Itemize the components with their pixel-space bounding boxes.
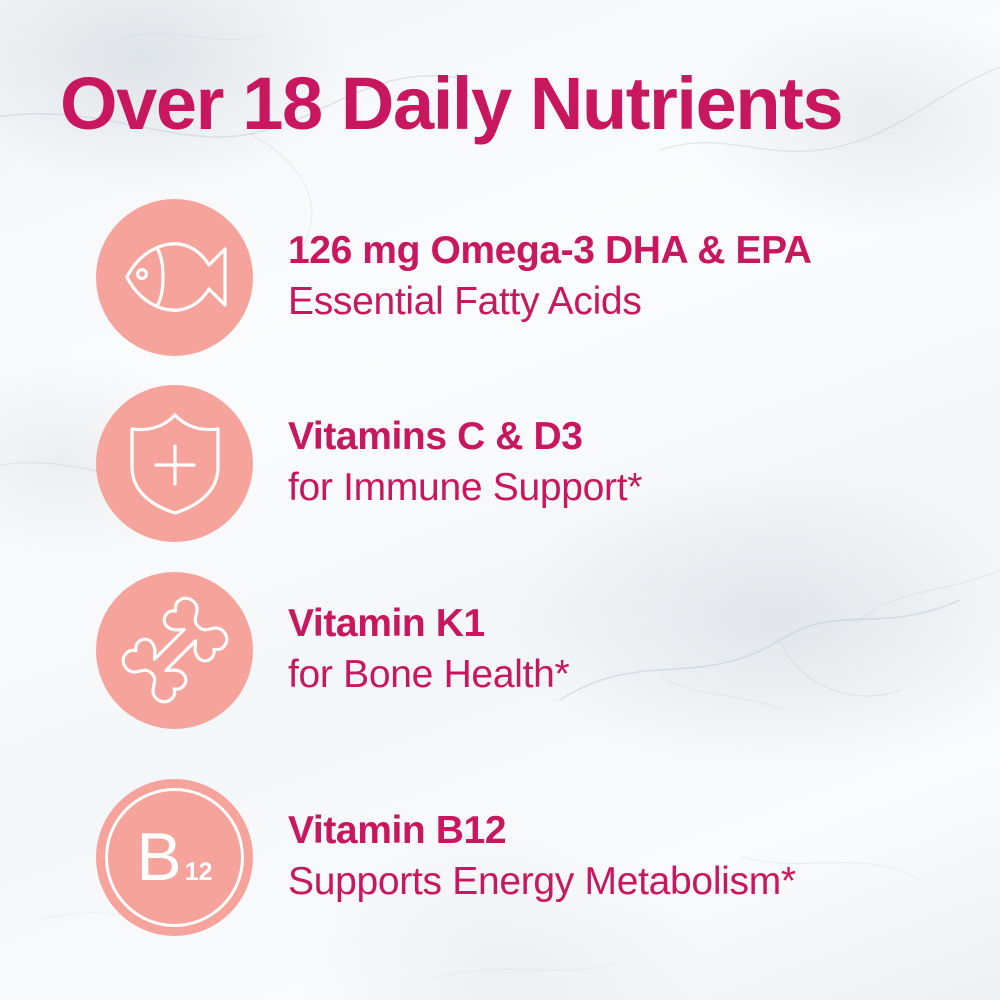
nutrient-secondary-label: Supports Energy Metabolism* (288, 856, 796, 908)
nutrient-infographic: Over 18 Daily Nutrients 126 mg Omega-3 D… (0, 0, 1000, 1000)
nutrient-secondary-label: Essential Fatty Acids (288, 276, 812, 328)
nutrient-secondary-label: for Immune Support* (288, 462, 642, 514)
bone-icon-badge (96, 572, 253, 729)
b12-letter: B (136, 823, 181, 891)
shield-plus-icon-badge (96, 385, 253, 542)
nutrient-row-vitamin-b12: B 12 Vitamin B12 Supports Energy Metabol… (0, 777, 1000, 937)
nutrient-text-vitamins-c-d3: Vitamins C & D3 for Immune Support* (288, 412, 642, 514)
fish-icon-badge (96, 199, 253, 356)
shield-plus-icon (119, 407, 231, 519)
nutrient-primary-label: Vitamin K1 (288, 599, 569, 649)
nutrient-row-vitamin-k1: Vitamin K1 for Bone Health* (0, 570, 1000, 730)
page-title: Over 18 Daily Nutrients (60, 62, 842, 146)
fish-icon (115, 217, 235, 337)
nutrient-primary-label: Vitamin B12 (288, 806, 796, 856)
nutrient-primary-label: Vitamins C & D3 (288, 412, 642, 462)
nutrient-primary-label: 126 mg Omega-3 DHA & EPA (288, 226, 812, 276)
nutrient-row-omega3: 126 mg Omega-3 DHA & EPA Essential Fatty… (0, 197, 1000, 357)
nutrient-text-omega3: 126 mg Omega-3 DHA & EPA Essential Fatty… (288, 226, 812, 328)
b12-glyph: B 12 (136, 823, 212, 891)
nutrient-text-vitamin-b12: Vitamin B12 Supports Energy Metabolism* (288, 806, 796, 908)
nutrient-row-vitamins-c-d3: Vitamins C & D3 for Immune Support* (0, 383, 1000, 543)
nutrient-secondary-label: for Bone Health* (288, 649, 569, 701)
b12-subscript: 12 (185, 860, 213, 885)
bone-icon (116, 591, 234, 709)
nutrient-text-vitamin-k1: Vitamin K1 for Bone Health* (288, 599, 569, 701)
b12-badge-icon: B 12 (96, 779, 253, 936)
